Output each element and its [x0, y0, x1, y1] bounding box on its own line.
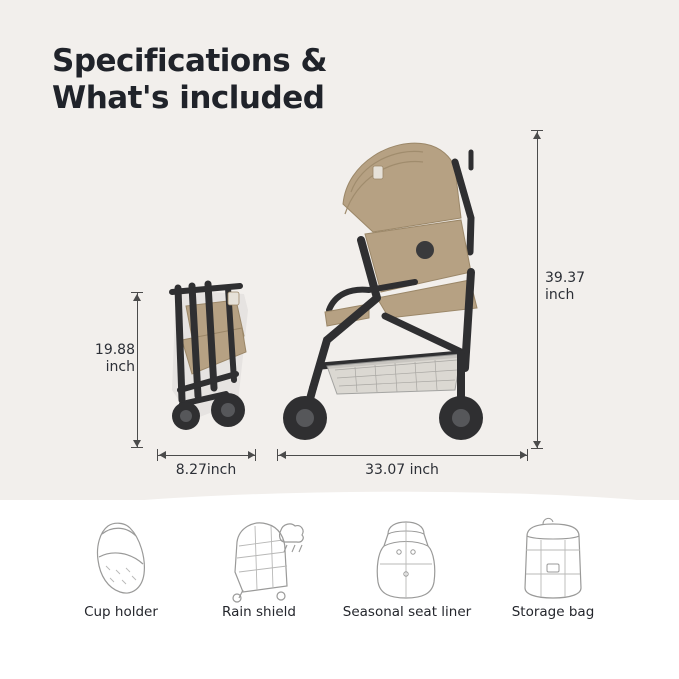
product-dimension-diagram: 19.88 inch 8.27inch 39.37 inch: [0, 110, 679, 500]
specifications-page: Specifications & What's included: [0, 0, 679, 679]
page-title: Specifications & What's included: [52, 43, 327, 117]
rain-shield-icon: [184, 512, 334, 604]
accessory-storage-bag-label: Storage bag: [478, 604, 628, 620]
folded-stroller-illustration: [152, 270, 272, 455]
cup-holder-icon: [46, 512, 196, 604]
storage-bag-icon: [478, 512, 628, 604]
dimension-open-height-label: 39.37 inch: [545, 270, 615, 304]
dimension-folded-height-label: 19.88 inch: [89, 342, 135, 376]
accessory-rain-shield[interactable]: Rain shield: [184, 512, 334, 620]
accessory-seat-liner-label: Seasonal seat liner: [332, 604, 482, 620]
seat-liner-icon: [332, 512, 482, 604]
included-accessories-panel: Cup holder: [0, 500, 679, 679]
accessory-cup-holder[interactable]: Cup holder: [46, 512, 196, 620]
dimension-folded-width-label: 8.27inch: [156, 462, 256, 479]
open-stroller-illustration: [265, 122, 525, 452]
accessory-rain-shield-label: Rain shield: [184, 604, 334, 620]
accessory-storage-bag[interactable]: Storage bag: [478, 512, 628, 620]
accessory-seat-liner[interactable]: Seasonal seat liner: [332, 512, 482, 620]
dimension-open-length-label: 33.07 inch: [277, 462, 527, 479]
accessory-cup-holder-label: Cup holder: [46, 604, 196, 620]
